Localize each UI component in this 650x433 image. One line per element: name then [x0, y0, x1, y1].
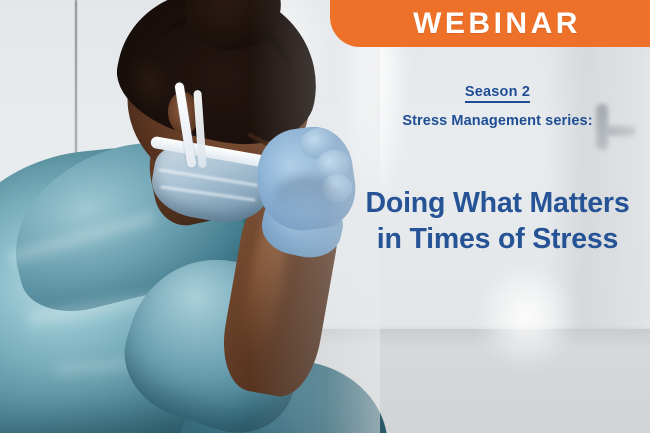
title-line-1: Doing What Matters: [350, 185, 645, 221]
season-label: Season 2: [465, 84, 530, 103]
headline-text-block: Season 2 Stress Management series: Doing…: [350, 84, 645, 258]
page-title: Doing What Matters in Times of Stress: [350, 185, 645, 258]
webinar-banner: WEBINAR: [330, 0, 650, 47]
title-line-2: in Times of Stress: [350, 221, 645, 257]
healthcare-worker-photo: [0, 0, 350, 433]
webinar-promo-banner: WEBINAR Season 2 Stress Management serie…: [0, 0, 650, 433]
season-line: Season 2: [350, 84, 645, 101]
floor-light-reflection: [481, 268, 572, 363]
series-label: Stress Management series:: [350, 113, 645, 130]
webinar-label: WEBINAR: [399, 9, 581, 39]
glove-shadow: [274, 176, 340, 216]
